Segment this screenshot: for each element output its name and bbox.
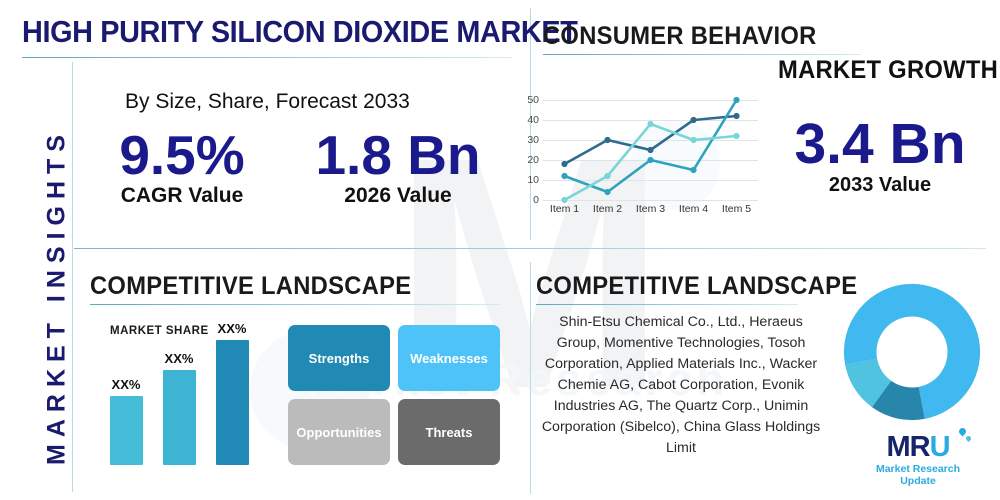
line-point [604,173,610,179]
competitive-landscape-left-heading: COMPETITIVE LANDSCAPE [90,272,480,301]
line-point [647,121,653,127]
bar-1-label: XX% [103,377,149,392]
kpi-2033-caption: 2033 Value [775,174,985,197]
sidebar-label: MARKET INSIGHTS [43,87,72,500]
page-subtitle: By Size, Share, Forecast 2033 [125,90,410,114]
logo-mark-accent: U [930,431,950,463]
bar-2 [163,370,196,465]
line-series-2 [565,100,737,192]
y-tick-30: 30 [527,134,539,146]
swot-opportunities[interactable]: Opportunities [288,399,390,465]
line-chart-svg [543,100,758,212]
competitive-landscape-right-section: COMPETITIVE LANDSCAPE [536,272,798,305]
line-point [690,117,696,123]
line-point [733,133,739,139]
competitive-landscape-right-underline [536,304,798,305]
y-tick-20: 20 [527,154,539,166]
x-tick-1: Item 1 [543,203,586,215]
consumer-behavior-underline [543,54,861,55]
bottom-center-vertical-divider [530,262,531,494]
consumer-behavior-section: CONSUMER BEHAVIOR [543,22,861,55]
x-tick-3: Item 3 [629,203,672,215]
kpi-2033: 3.4 Bn 2033 Value [775,112,985,197]
x-tick-5: Item 5 [715,203,758,215]
line-point [604,189,610,195]
kpi-2033-value: 3.4 Bn [775,112,985,176]
horizontal-divider [74,248,986,249]
line-point [690,137,696,143]
infographic-canvas: M Market Research MARKET INSIGHTS HIGH P… [0,0,1000,500]
logo-mark-dark: MR [886,431,929,463]
logo-mark: MRU [858,432,978,462]
bar-2-label: XX% [156,351,202,366]
swot-grid: Strengths Weaknesses Opportunities Threa… [288,325,500,465]
line-point [733,97,739,103]
consumer-behavior-line-chart: 50 40 30 20 10 0 [543,100,758,212]
competitive-landscape-right-heading: COMPETITIVE LANDSCAPE [536,272,785,301]
y-tick-50: 50 [527,94,539,106]
line-point [604,137,610,143]
left-vertical-divider [72,62,73,492]
line-chart-x-axis: Item 1 Item 2 Item 3 Item 4 Item 5 [543,203,758,215]
market-share-bar-chart: XX% XX% XX% [100,340,270,465]
y-tick-40: 40 [527,114,539,126]
market-share-label: MARKET SHARE [110,325,209,337]
swot-threats[interactable]: Threats [398,399,500,465]
y-tick-10: 10 [527,174,539,186]
donut-segment-1 [912,284,980,419]
line-point [561,173,567,179]
x-tick-4: Item 4 [672,203,715,215]
donut-segment-4 [844,284,912,365]
swot-weaknesses[interactable]: Weaknesses [398,325,500,391]
line-point [690,167,696,173]
consumer-behavior-heading: CONSUMER BEHAVIOR [543,22,845,51]
line-point [561,161,567,167]
market-share-donut-chart [838,278,986,426]
bar-3-label: XX% [209,321,255,336]
logo: MRU Market Research Update [858,432,978,487]
kpi-cagr: 9.5% CAGR Value [92,124,272,208]
kpi-2026-caption: 2026 Value [308,184,488,208]
x-tick-2: Item 2 [586,203,629,215]
line-point [647,147,653,153]
y-tick-0: 0 [533,194,539,206]
competitive-landscape-left-underline [90,304,500,305]
bar-1 [110,396,143,465]
kpi-cagr-value: 9.5% [92,124,272,186]
market-growth-heading: MARKET GROWTH [778,56,998,85]
bar-3 [216,340,249,465]
title-underline [22,57,512,58]
company-list: Shin-Etsu Chemical Co., Ltd., Heraeus Gr… [536,312,826,459]
kpi-2026: 1.8 Bn 2026 Value [308,124,488,208]
kpi-2026-value: 1.8 Bn [308,124,488,186]
swot-strengths[interactable]: Strengths [288,325,390,391]
line-point [733,113,739,119]
logo-tagline: Market Research Update [858,463,978,487]
line-point [647,157,653,163]
kpi-cagr-caption: CAGR Value [92,184,272,208]
competitive-landscape-left-section: COMPETITIVE LANDSCAPE [90,272,500,305]
page-title: HIGH PURITY SILICON DIOXIDE MARKET [22,14,577,50]
title-underline-wrap [22,54,512,58]
